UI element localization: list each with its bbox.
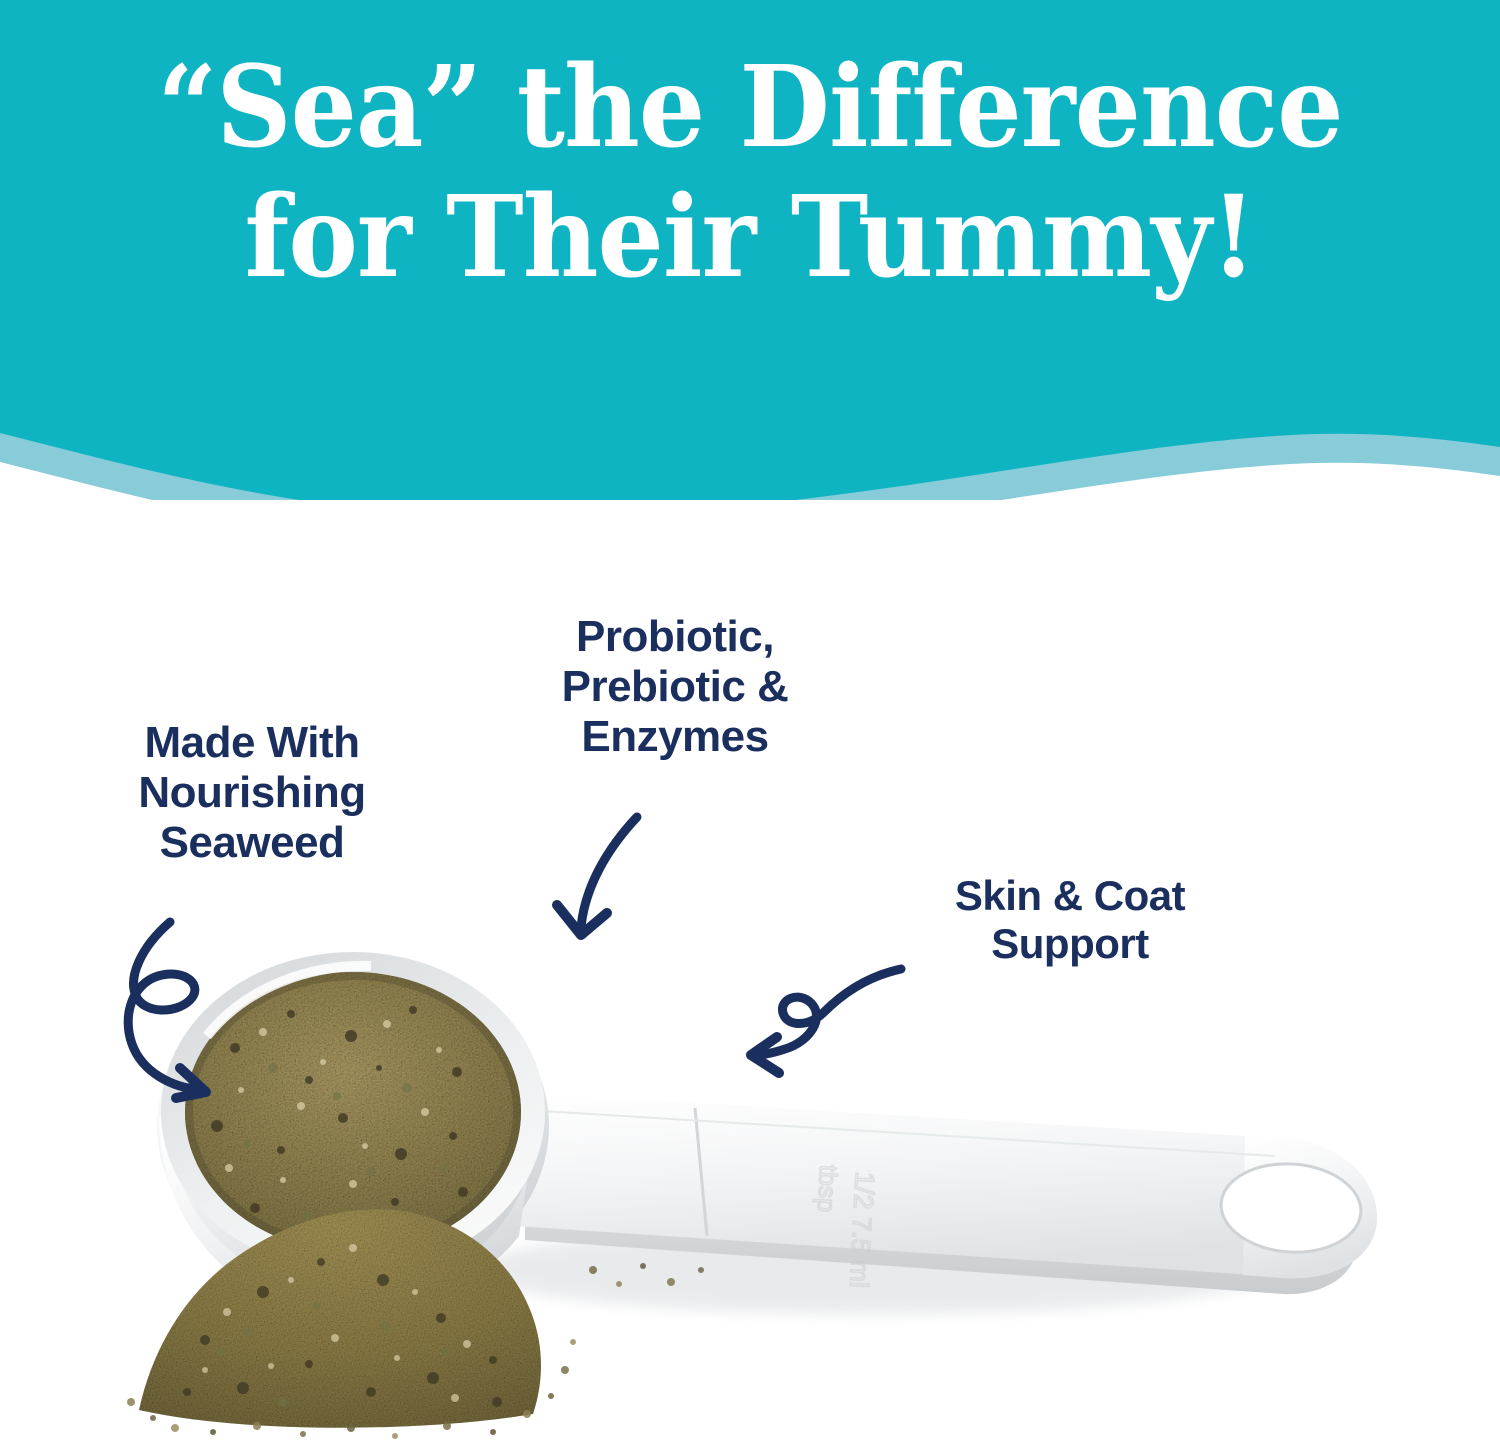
looping-arrow-down-right-icon [110, 910, 260, 1100]
callout-skin-and-coat-support: Skin & Coat Support [880, 872, 1260, 968]
curved-arrow-down-icon [545, 805, 675, 955]
callout-probiotic-prebiotic-enzymes: Probiotic, Prebiotic & Enzymes [490, 612, 860, 762]
wave-main-shape [0, 0, 1500, 500]
svg-text:7.5 ml: 7.5 ml [844, 1216, 878, 1288]
header-banner [0, 0, 1500, 500]
looping-arrow-left-icon [745, 955, 925, 1085]
svg-text:1/2: 1/2 [848, 1171, 880, 1210]
callout-made-with-nourishing-seaweed: Made With Nourishing Seaweed [72, 718, 432, 868]
callout-skincoat-line-1: Skin & Coat [880, 872, 1260, 920]
callout-probiotic-line-1: Probiotic, [490, 612, 860, 662]
callout-seaweed-line-3: Seaweed [72, 818, 432, 868]
callout-probiotic-line-2: Prebiotic & [490, 662, 860, 712]
poster-root: “Sea” the Difference for Their Tummy! [0, 0, 1500, 1449]
svg-text:tbsp: tbsp [812, 1164, 842, 1213]
callout-skincoat-line-2: Support [880, 920, 1260, 968]
callout-probiotic-line-3: Enzymes [490, 712, 860, 762]
callout-seaweed-line-1: Made With [72, 718, 432, 768]
callout-seaweed-line-2: Nourishing [72, 768, 432, 818]
